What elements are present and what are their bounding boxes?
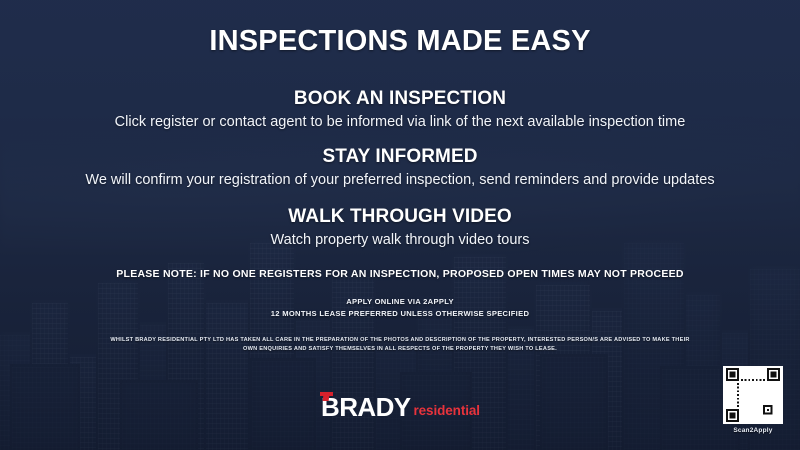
logo-wordmark: BRADY	[321, 394, 410, 420]
section-stay-informed: STAY INFORMED We will confirm your regis…	[0, 146, 800, 188]
legal-disclaimer: WHILST BRADY RESIDENTIAL PTY LTD HAS TAK…	[60, 336, 740, 354]
section-book-an-inspection: BOOK AN INSPECTION Click register or con…	[0, 88, 800, 130]
brady-residential-logo: BRADY residential	[0, 392, 800, 421]
section-walk-through-video: WALK THROUGH VIDEO Watch property walk t…	[0, 206, 800, 248]
disclaimer-line-1: WHILST BRADY RESIDENTIAL PTY LTD HAS TAK…	[60, 336, 740, 345]
section-title: BOOK AN INSPECTION	[0, 88, 800, 110]
section-title: WALK THROUGH VIDEO	[0, 206, 800, 228]
slide-content: INSPECTIONS MADE EASY BOOK AN INSPECTION…	[0, 0, 800, 450]
inspection-info-slide: INSPECTIONS MADE EASY BOOK AN INSPECTION…	[0, 0, 800, 450]
section-subtitle: We will confirm your registration of you…	[0, 172, 800, 188]
please-note-text: PLEASE NOTE: IF NO ONE REGISTERS FOR AN …	[0, 268, 800, 280]
section-subtitle: Watch property walk through video tours	[0, 232, 800, 248]
section-subtitle: Click register or contact agent to be in…	[0, 114, 800, 130]
section-title: STAY INFORMED	[0, 146, 800, 168]
apply-instructions: APPLY ONLINE VIA 2APPLY 12 MONTHS LEASE …	[0, 296, 800, 320]
scan-to-apply-block[interactable]: Scan2Apply	[720, 366, 786, 434]
qr-label: Scan2Apply	[720, 427, 786, 434]
apply-online-line: APPLY ONLINE VIA 2APPLY	[0, 296, 800, 308]
lease-term-line: 12 MONTHS LEASE PREFERRED UNLESS OTHERWI…	[0, 308, 800, 320]
page-title: INSPECTIONS MADE EASY	[0, 25, 800, 58]
logo-suffix: residential	[414, 404, 480, 418]
disclaimer-line-2: OWN ENQUIRIES AND SATISFY THEMSELVES IN …	[60, 345, 740, 354]
brady-flag-mark-icon	[320, 392, 333, 401]
qr-code-icon[interactable]	[723, 366, 783, 424]
